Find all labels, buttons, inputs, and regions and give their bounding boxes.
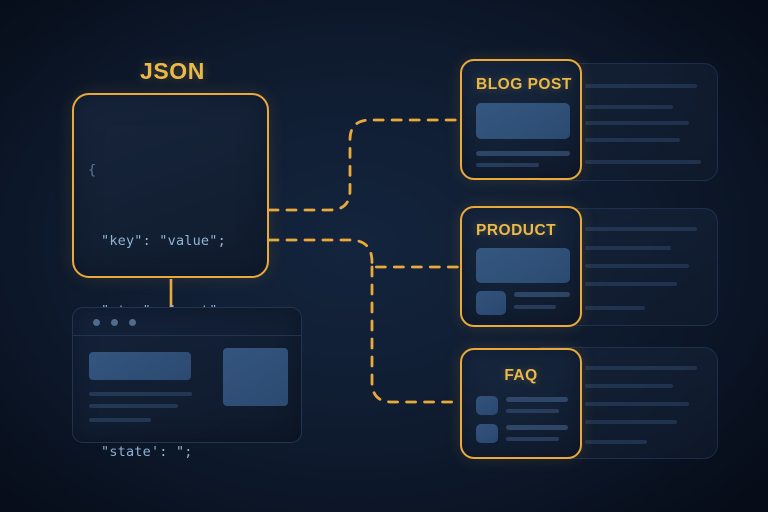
json-panel-title: JSON	[70, 58, 275, 85]
ghost-text-line	[585, 366, 697, 370]
card-text-line	[506, 397, 568, 402]
card-text-line	[514, 292, 570, 297]
window-dot-icon	[93, 319, 100, 326]
ghost-text-line	[585, 440, 647, 444]
card-title-faq: FAQ	[462, 367, 580, 385]
card-thumbnail	[476, 248, 570, 283]
connector-json-to-faq	[372, 267, 460, 402]
output-card-faq[interactable]: FAQ	[460, 348, 582, 459]
card-text-line	[506, 425, 568, 430]
browser-window-mockup[interactable]	[72, 307, 302, 443]
connector-json-to-blog-post	[269, 120, 460, 210]
preview-text-line	[89, 392, 192, 396]
ghost-text-line	[585, 306, 645, 310]
ghost-text-line	[585, 420, 677, 424]
json-code-line: "state': ";	[88, 441, 268, 465]
ghost-text-line	[585, 84, 697, 88]
output-card-product[interactable]: PRODUCT	[460, 206, 582, 327]
faq-item-icon	[476, 396, 498, 415]
card-text-line	[506, 437, 559, 441]
ghost-text-line	[585, 138, 680, 142]
diagram-canvas: JSON { "key": "value"; "step": "nact"; "…	[0, 0, 768, 512]
card-thumbnail-small	[476, 291, 506, 315]
ghost-text-line	[585, 246, 671, 250]
ghost-text-line	[585, 121, 689, 125]
card-text-line	[506, 409, 559, 413]
connector-json-to-product	[269, 240, 460, 267]
ghost-text-line	[585, 402, 689, 406]
ghost-text-line	[585, 227, 697, 231]
card-text-line	[476, 163, 539, 167]
faq-item-icon	[476, 424, 498, 443]
output-card-blog-post[interactable]: BLOG POST	[460, 59, 582, 180]
card-title-product: PRODUCT	[462, 222, 580, 240]
json-code-line: {	[88, 159, 268, 183]
browser-title-bar	[73, 308, 301, 336]
preview-text-line	[89, 404, 178, 408]
ghost-text-line	[585, 384, 673, 388]
window-dot-icon	[129, 319, 136, 326]
ghost-text-line	[585, 282, 677, 286]
json-code-line: "key": "value";	[88, 230, 268, 254]
card-text-line	[514, 305, 556, 309]
ghost-text-line	[585, 264, 689, 268]
ghost-text-line	[585, 160, 701, 164]
preview-side-square	[223, 348, 288, 406]
card-text-line	[476, 151, 570, 156]
ghost-text-line	[585, 105, 673, 109]
window-dot-icon	[111, 319, 118, 326]
preview-text-line	[89, 418, 151, 422]
card-title-blog-post: BLOG POST	[462, 76, 580, 94]
card-thumbnail	[476, 103, 570, 139]
preview-hero-block	[89, 352, 191, 380]
